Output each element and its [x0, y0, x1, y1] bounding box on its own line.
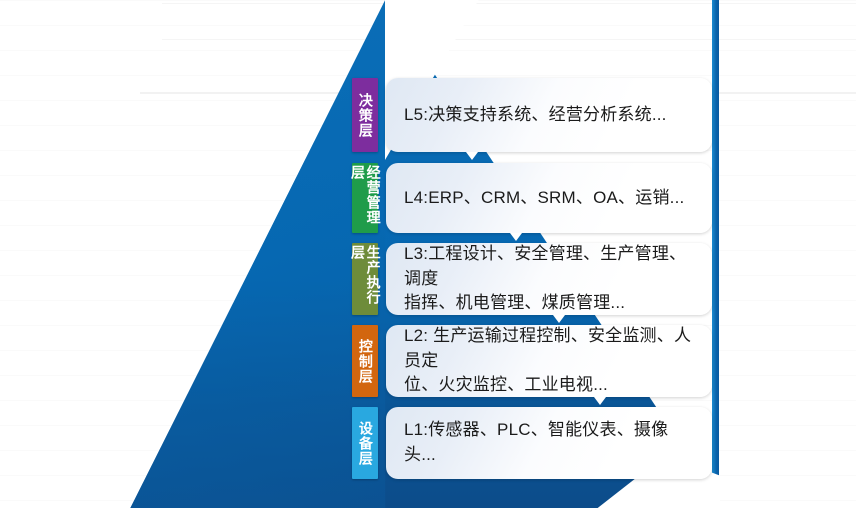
gap-arrow-l3-l2 [553, 315, 565, 323]
level-row-l4[interactable]: 经营管理层 L4:ERP、CRM、SRM、OA、运销... [352, 163, 712, 233]
level-tag-l4: 经营管理层 [352, 163, 378, 233]
level-tag-l5: 决策层 [352, 78, 378, 152]
diagram-canvas: 决策层 L5:决策支持系统、经营分析系统... 经营管理层 L4:ERP、CRM… [0, 0, 856, 514]
level-card-l2[interactable]: L2: 生产运输过程控制、安全监测、人员定 位、火灾监控、工业电视... [386, 325, 712, 397]
level-tag-l2: 控制层 [352, 325, 378, 397]
level-card-l1[interactable]: L1:传感器、PLC、智能仪表、摄像头... [386, 407, 712, 479]
level-text-l1: L1:传感器、PLC、智能仪表、摄像头... [404, 418, 696, 467]
level-text-l5: L5:决策支持系统、经营分析系统... [404, 103, 667, 128]
gap-arrow-l4-l3 [510, 233, 522, 241]
level-row-l2[interactable]: 控制层 L2: 生产运输过程控制、安全监测、人员定 位、火灾监控、工业电视... [352, 325, 712, 397]
pyramid-levels: 决策层 L5:决策支持系统、经营分析系统... 经营管理层 L4:ERP、CRM… [0, 0, 856, 514]
level-row-l3[interactable]: 生产执行层 L3:工程设计、安全管理、生产管理、调度 指挥、机电管理、煤质管理.… [352, 243, 712, 315]
level-text-l3: L3:工程设计、安全管理、生产管理、调度 指挥、机电管理、煤质管理... [404, 242, 696, 316]
level-tag-l3: 生产执行层 [352, 243, 378, 315]
level-text-l2: L2: 生产运输过程控制、安全监测、人员定 位、火灾监控、工业电视... [404, 324, 696, 398]
level-card-l5[interactable]: L5:决策支持系统、经营分析系统... [386, 78, 712, 152]
level-card-l3[interactable]: L3:工程设计、安全管理、生产管理、调度 指挥、机电管理、煤质管理... [386, 243, 712, 315]
level-row-l1[interactable]: 设备层 L1:传感器、PLC、智能仪表、摄像头... [352, 407, 712, 479]
level-card-l4[interactable]: L4:ERP、CRM、SRM、OA、运销... [386, 163, 712, 233]
gap-arrow-l2-l1 [594, 397, 606, 405]
level-text-l4: L4:ERP、CRM、SRM、OA、运销... [404, 186, 684, 211]
gap-arrow-l5-l4 [466, 152, 478, 160]
level-row-l5[interactable]: 决策层 L5:决策支持系统、经营分析系统... [352, 78, 712, 152]
level-tag-l1: 设备层 [352, 407, 378, 479]
